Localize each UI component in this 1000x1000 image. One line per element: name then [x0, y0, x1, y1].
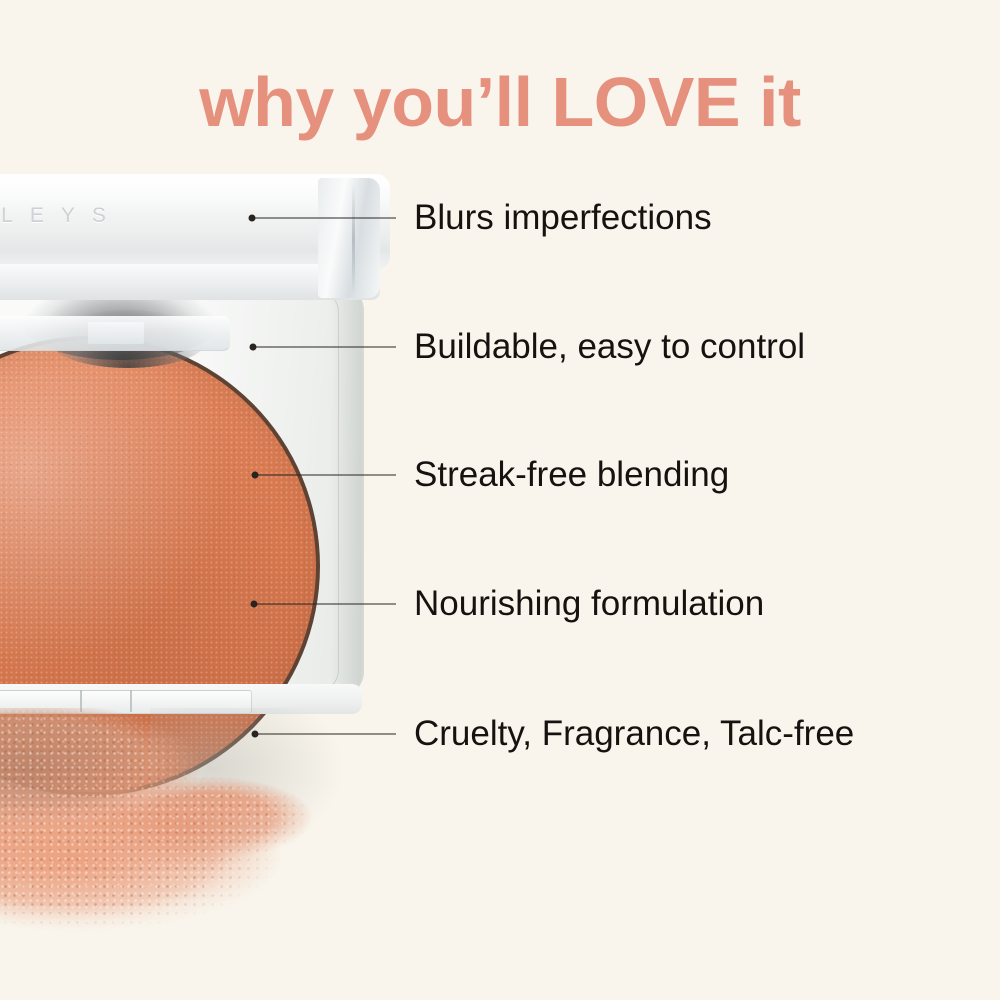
callout-leader-line — [255, 475, 396, 476]
callout-leader-line — [254, 604, 396, 605]
product-photo: HALEYS HALEYS — [0, 160, 380, 1000]
clear-lid-endcap-highlight — [352, 184, 355, 296]
callout-label: Cruelty, Fragrance, Talc-free — [414, 713, 854, 755]
callout-label: Buildable, easy to control — [414, 326, 805, 368]
callout-leader-line — [253, 347, 396, 348]
powder-swatch-grain — [0, 708, 350, 958]
brand-wordmark: HALEYS — [0, 204, 248, 230]
callout-leader-line — [252, 218, 396, 219]
callout-label: Blurs imperfections — [414, 197, 712, 239]
clear-lid-endcap — [318, 178, 380, 298]
lid-hinge-notch — [88, 322, 144, 344]
callout-label: Nourishing formulation — [414, 583, 764, 625]
callout-leader-line — [255, 734, 396, 735]
compact-edge-shadow — [330, 286, 364, 696]
page-title: why you’ll LOVE it — [0, 62, 1000, 142]
infographic-canvas: why you’ll LOVE it HALEYS HALEYS Blurs i… — [0, 0, 1000, 1000]
callout-label: Streak-free blending — [414, 454, 729, 496]
